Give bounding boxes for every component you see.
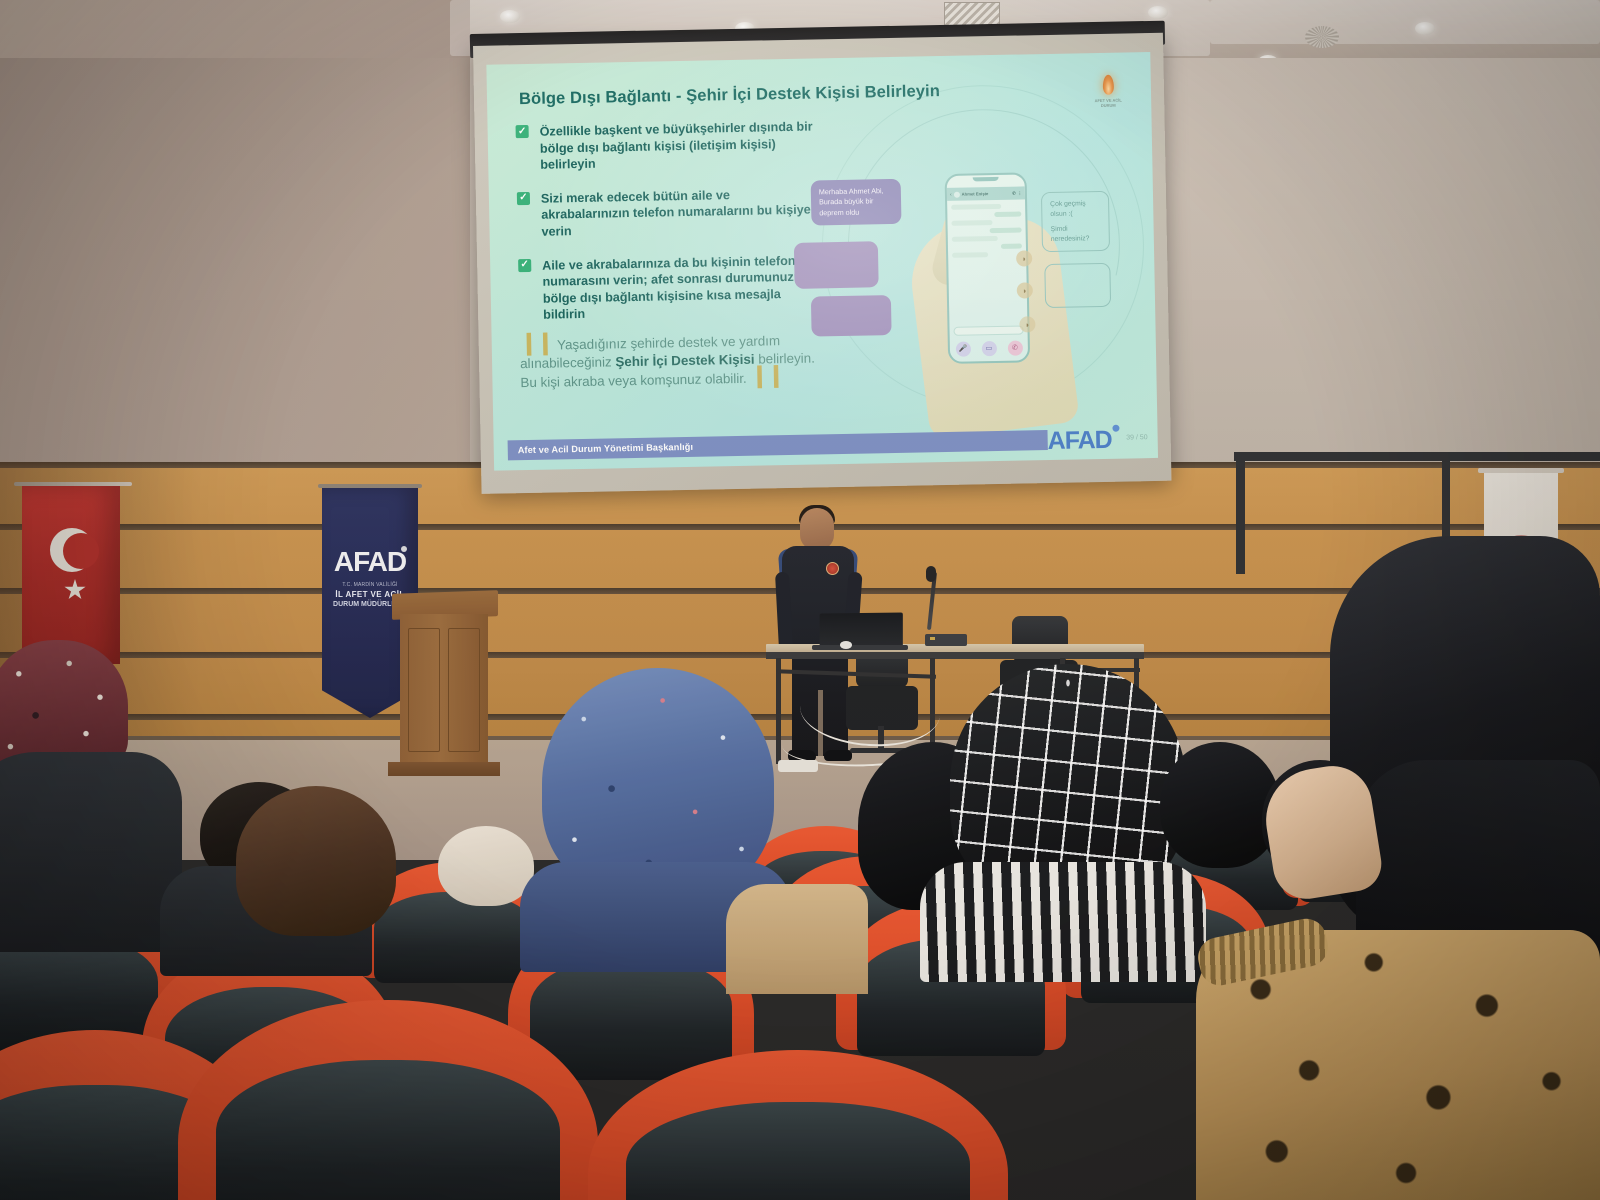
video-icon: ▭ <box>981 341 996 356</box>
quote-emphasis: Şehir İçi Destek Kişisi <box>615 352 754 370</box>
afad-badge-icon <box>826 562 839 575</box>
audience-coat <box>726 884 868 994</box>
power-strip <box>778 760 818 772</box>
chat-contact-name: Ahmet Enişte <box>962 191 989 197</box>
checkbox-icon: ✓ <box>516 125 529 138</box>
presenter-head <box>800 508 834 550</box>
microphone-icon: 🎤 <box>955 341 970 356</box>
smartphone-illustration: ‹ Ahmet Enişte ✆ ⋮ <box>945 172 1031 364</box>
slide-illustration: ‹ Ahmet Enişte ✆ ⋮ <box>817 98 1153 434</box>
bubble-line-2: Şimdi neredesiniz? <box>1051 224 1101 245</box>
quote-open-icon: ❙❙ <box>520 336 553 350</box>
auditorium-seat <box>588 1050 1008 1200</box>
audience-headscarf <box>0 640 128 770</box>
audience-coat <box>0 752 182 952</box>
ceiling-light-icon <box>500 10 520 23</box>
chat-bubble-blank <box>1044 263 1111 308</box>
bullet-item: ✓ Özellikle başkent ve büyükşehirler dış… <box>516 118 817 174</box>
phone-call-icon: ✆ <box>1012 191 1016 196</box>
banner-rod <box>318 484 422 488</box>
turkish-flag <box>22 486 120 664</box>
av-control-box <box>925 634 967 646</box>
afad-logo-dot <box>1112 425 1119 432</box>
afad-banner-line1: T.C. MARDİN VALİLİĞİ <box>322 582 418 588</box>
afad-banner-logo-dot <box>401 546 407 552</box>
crescent-icon <box>50 528 94 572</box>
chat-bubble-blank <box>794 241 879 289</box>
afad-logo: AFAD <box>1047 426 1112 456</box>
balcony-rail <box>1234 452 1600 461</box>
bullet-text: Özellikle başkent ve büyükşehirler dışın… <box>540 119 813 171</box>
audience-head <box>236 786 396 936</box>
call-action-bar: 🎤 ▭ ✆ <box>950 338 1028 357</box>
auditorium-seat <box>178 1000 598 1200</box>
audience-head <box>1160 742 1280 868</box>
air-diffuser-icon <box>1305 26 1339 48</box>
lectern-base <box>388 762 500 776</box>
footer-bar: Afet ve Acil Durum Yönetimi Başkanlığı <box>508 430 1048 460</box>
chat-input-field <box>953 325 1023 335</box>
ceiling-light-icon <box>1148 6 1168 19</box>
ceiling-light-icon <box>1415 22 1435 35</box>
microphone-head <box>926 566 936 582</box>
call-icon: ✆ <box>1007 340 1022 355</box>
bullet-text: Sizi merak edecek bütün aile ve akrabala… <box>541 188 811 239</box>
star-icon <box>64 579 86 601</box>
bubble-line-1: Çok geçmiş olsun :( <box>1050 199 1100 220</box>
quote-close-icon: ❙❙ <box>750 369 783 383</box>
projection-screen: Bölge Dışı Bağlantı - Şehir İçi Destek K… <box>473 33 1171 494</box>
upper-wall-shadow <box>0 58 470 478</box>
chat-app-header: ‹ Ahmet Enişte ✆ ⋮ <box>947 186 1025 200</box>
audience-headscarf <box>438 826 534 906</box>
balcony-rail-post <box>1236 452 1245 574</box>
footer-organization: Afet ve Acil Durum Yönetimi Başkanlığı <box>518 442 694 455</box>
ceiling-panel <box>1210 0 1600 44</box>
bullet-text: Aile ve akrabalarınıza da bu kişinin tel… <box>542 254 801 323</box>
contact-avatar <box>954 191 960 197</box>
presentation-slide: Bölge Dışı Bağlantı - Şehir İçi Destek K… <box>486 52 1158 471</box>
laptop-screen <box>820 612 903 647</box>
computer-mouse <box>840 641 852 649</box>
bullet-item: ✓ Aile ve akrabalarınıza da bu kişinin t… <box>518 252 819 324</box>
slide-page-number: 39 / 50 <box>1126 434 1148 441</box>
phone-menu-icon: ⋮ <box>1018 190 1022 195</box>
slide-bullet-list: ✓ Özellikle başkent ve büyükşehirler dış… <box>516 118 820 341</box>
auditorium-photo: Bölge Dışı Bağlantı - Şehir İçi Destek K… <box>0 0 1600 1200</box>
checkbox-icon: ✓ <box>517 192 530 205</box>
wooden-lectern <box>400 614 488 769</box>
laptop-base <box>812 645 908 650</box>
chat-bubble-blank <box>811 295 892 337</box>
chat-bubble-left: Merhaba Ahmet Abi, Burada büyük bir depr… <box>811 179 902 226</box>
chat-bubble-right: Çok geçmiş olsun :( Şimdi neredesiniz? <box>1041 191 1110 253</box>
audience-striped-shoulders <box>920 862 1206 982</box>
chat-message-list <box>951 204 1022 261</box>
slide-quote: ❙❙ Yaşadığınız şehirde destek ve yardım … <box>520 330 821 392</box>
checkbox-icon: ✓ <box>518 259 531 272</box>
phone-notch <box>973 177 999 181</box>
bullet-item: ✓ Sizi merak edecek bütün aile ve akraba… <box>517 185 818 241</box>
